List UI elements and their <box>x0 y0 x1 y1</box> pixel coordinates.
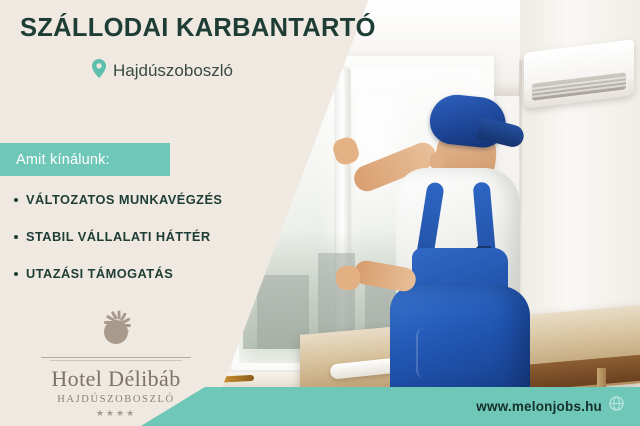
list-item-label: VÁLTOZATOS MUNKAVÉGZÉS <box>26 192 222 207</box>
hotel-name: Hotel Délibáb <box>36 366 196 392</box>
worker-lower-hand <box>336 266 360 290</box>
bullet-icon <box>14 235 18 239</box>
hotel-city: HAJDÚSZOBOSZLÓ <box>36 394 196 405</box>
website-url: www.melonjobs.hu <box>476 399 602 414</box>
list-item-label: UTAZÁSI TÁMOGATÁS <box>26 266 173 281</box>
overall-pocket <box>416 328 474 378</box>
map-pin-icon <box>92 59 106 83</box>
page-title: SZÁLLODAI KARBANTARTÓ <box>20 14 376 43</box>
list-item: STABIL VÁLLALATI HÁTTÉR <box>14 229 264 244</box>
bullet-icon <box>14 272 18 276</box>
bullet-icon <box>14 198 18 202</box>
offer-banner: Amit kínálunk: <box>0 143 170 176</box>
list-item: UTAZÁSI TÁMOGATÁS <box>14 266 264 281</box>
website-link[interactable]: www.melonjobs.hu <box>476 396 624 416</box>
worker-figure <box>360 96 580 396</box>
sun-icon <box>87 312 145 354</box>
logo-divider <box>41 357 191 358</box>
globe-icon <box>609 396 624 416</box>
job-ad-poster: SZÁLLODAI KARBANTARTÓ Hajdúszoboszló Ami… <box>0 0 640 426</box>
location-name: Hajdúszoboszló <box>113 61 233 81</box>
offer-label: Amit kínálunk: <box>16 152 110 168</box>
list-item-label: STABIL VÁLLALATI HÁTTÉR <box>26 229 211 244</box>
offer-list: VÁLTOZATOS MUNKAVÉGZÉS STABIL VÁLLALATI … <box>14 192 264 303</box>
hotel-logo: Hotel Délibáb HAJDÚSZOBOSZLÓ ★★★★ <box>36 312 196 419</box>
list-item: VÁLTOZATOS MUNKAVÉGZÉS <box>14 192 264 207</box>
location-row: Hajdúszoboszló <box>92 59 233 83</box>
logo-divider-thin <box>50 360 182 361</box>
